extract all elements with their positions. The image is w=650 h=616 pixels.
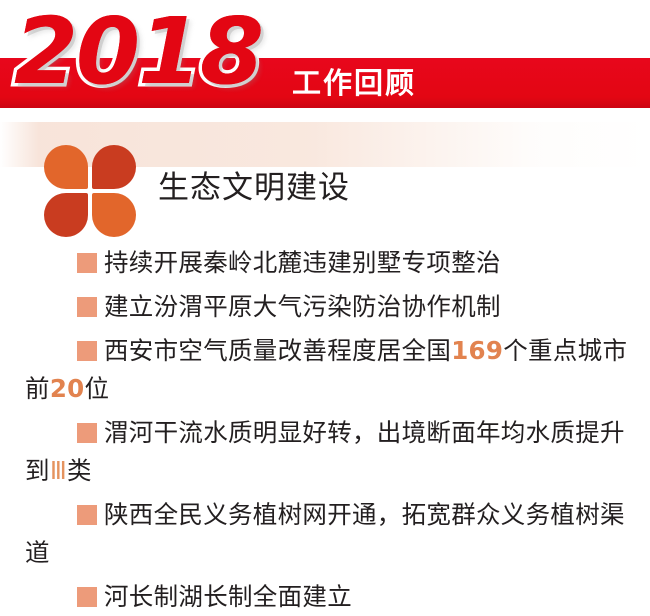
list-item-text: 陕西全民义务植树网开通，拓宽群众义务植树渠道 [25, 500, 625, 567]
four-petal-flower-icon [44, 145, 136, 237]
list-item: 渭河干流水质明显好转，出境断面年均水质提升到Ⅲ类 [0, 414, 650, 490]
list-item-text: 西安市空气质量改善程度居全国 [104, 336, 451, 365]
section-title: 生态文明建设 [158, 166, 350, 210]
list-item: 陕西全民义务植树网开通，拓宽群众义务植树渠道 [0, 496, 650, 572]
list-item: 持续开展秦岭北麓违建别墅专项整治 [0, 244, 650, 282]
list-item-text: 持续开展秦岭北麓违建别墅专项整治 [104, 248, 501, 277]
flower-petal-top-right [92, 145, 136, 189]
square-bullet-icon [77, 505, 97, 525]
square-bullet-icon [77, 423, 97, 443]
list-item-text: 类 [67, 456, 92, 485]
header-banner-region: 2018 2018 工作回顾 [0, 0, 650, 122]
list-item-text: 河长制湖长制全面建立 [104, 582, 352, 611]
square-bullet-icon [77, 297, 97, 317]
flower-petal-bottom-right [92, 193, 136, 237]
list-item-text: 建立汾渭平原大气污染防治协作机制 [104, 292, 501, 321]
highlighted-value: 169 [451, 336, 503, 365]
square-bullet-icon [77, 253, 97, 273]
section-header-region: 生态文明建设 [0, 122, 650, 244]
list-item: 建立汾渭平原大气污染防治协作机制 [0, 288, 650, 326]
achievement-bullet-list: 持续开展秦岭北麓违建别墅专项整治建立汾渭平原大气污染防治协作机制西安市空气质量改… [0, 244, 650, 616]
year-title: 2018 [14, 6, 262, 98]
list-item-text: 渭河干流水质明显好转，出境断面年均水质提升到 [25, 418, 625, 485]
square-bullet-icon [77, 341, 97, 361]
flower-petal-top-left [44, 145, 88, 189]
flower-petal-bottom-left [44, 193, 88, 237]
highlighted-value: Ⅲ [50, 456, 67, 485]
list-item-text: 位 [85, 374, 110, 403]
list-item: 西安市空气质量改善程度居全国169个重点城市前20位 [0, 332, 650, 408]
list-item: 河长制湖长制全面建立 [0, 578, 650, 616]
header-subtitle: 工作回顾 [292, 63, 416, 103]
highlighted-value: 20 [50, 374, 85, 403]
square-bullet-icon [77, 587, 97, 607]
